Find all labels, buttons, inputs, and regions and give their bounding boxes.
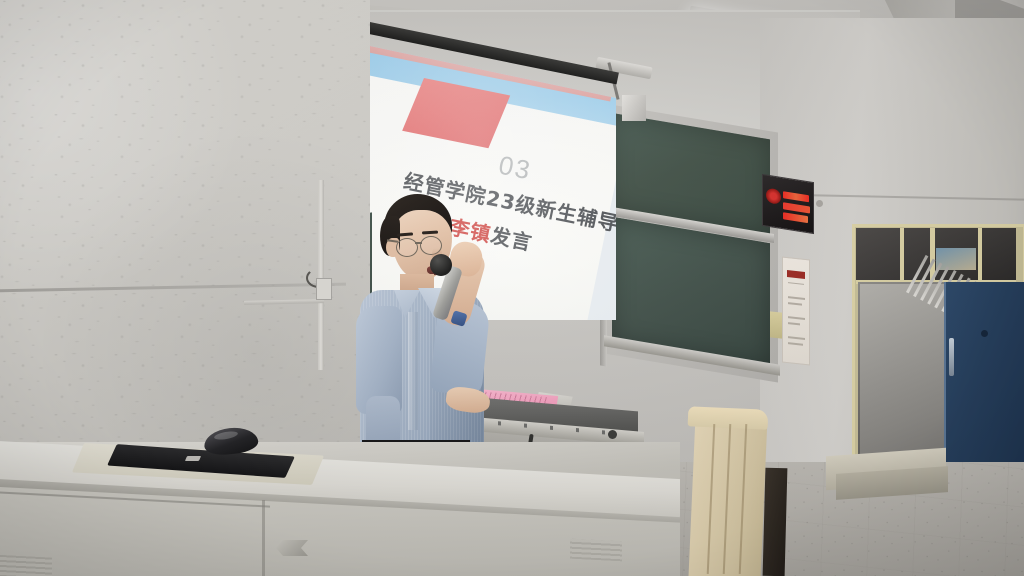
notice-line bbox=[788, 322, 800, 325]
notice-header bbox=[787, 270, 805, 279]
glasses-lens-left bbox=[396, 238, 418, 257]
led-display-board bbox=[762, 174, 814, 234]
wall-notice-small bbox=[770, 311, 782, 338]
led-text-row bbox=[783, 191, 809, 202]
slide-section-number: 03 bbox=[496, 150, 534, 187]
notice-line bbox=[788, 336, 805, 340]
notice-line bbox=[788, 316, 805, 320]
podium-vent bbox=[570, 539, 622, 562]
door-panel[interactable] bbox=[944, 282, 1024, 482]
notice-line bbox=[788, 342, 803, 346]
corridor-wall bbox=[860, 284, 946, 476]
led-text-row bbox=[783, 202, 810, 213]
notice-line bbox=[788, 302, 802, 305]
left-wall-texture bbox=[0, 0, 370, 470]
glasses-bridge bbox=[415, 242, 422, 244]
door-peephole-icon bbox=[981, 330, 988, 337]
podium-seam bbox=[262, 500, 265, 576]
transom-divider bbox=[978, 228, 982, 280]
podium-vent bbox=[0, 554, 52, 576]
led-emblem-icon bbox=[766, 188, 781, 205]
chair-leg bbox=[763, 468, 788, 576]
screen-wall-bracket bbox=[622, 95, 646, 121]
chair-top-rail bbox=[688, 406, 769, 429]
classroom-scene: 03 经管学院23级新生辅导员 李镇发言 bbox=[0, 0, 1024, 576]
wall-notice bbox=[782, 257, 810, 366]
transom-divider bbox=[900, 228, 904, 280]
console-knob[interactable] bbox=[608, 430, 617, 439]
keyboard-key-highlight bbox=[185, 456, 201, 461]
shirt-button-placket bbox=[408, 312, 418, 430]
led-text-row bbox=[783, 212, 808, 223]
wall-fixture-spot bbox=[816, 200, 823, 207]
door-handle[interactable] bbox=[949, 338, 954, 376]
microphone-head-icon bbox=[430, 254, 452, 276]
notice-line bbox=[788, 296, 805, 300]
wall-outlet[interactable] bbox=[316, 278, 332, 300]
notice-line bbox=[788, 282, 804, 285]
